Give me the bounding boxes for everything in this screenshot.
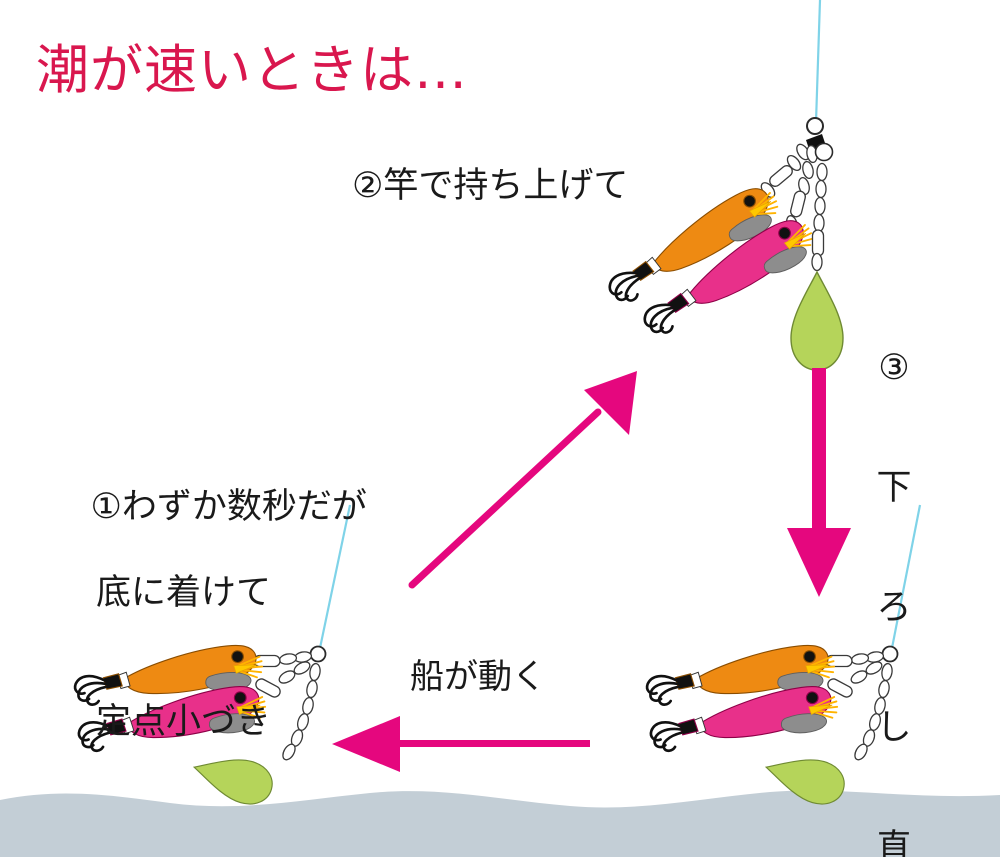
step-1-line1: ①わずか数秒だが (91, 487, 367, 527)
boat-moves-label: 船が動く (410, 649, 546, 698)
step-3-char-4: 直 (872, 828, 916, 857)
sinker-lifted (791, 272, 843, 370)
step-3-char-2: ろ (872, 588, 916, 628)
step-3-char-1: 下 (872, 468, 916, 508)
step-1-line3: 定点小づき (46, 701, 367, 744)
step-2-text: 竿で持ち上げて (383, 166, 628, 206)
arrow-down (787, 368, 851, 597)
step-3-label: ③ 下 ろ し 直 す (872, 268, 916, 857)
step-2-marker: ② (352, 166, 383, 206)
step-2-label: ②竿で持ち上げて (352, 157, 628, 208)
step-1-text1: わずか数秒だが (122, 487, 367, 527)
step-3-marker: ③ (872, 348, 916, 388)
fishing-line (816, 0, 820, 122)
step-1-marker: ① (91, 487, 122, 527)
arrow-left (332, 716, 590, 772)
step-3-char-3: し (872, 708, 916, 748)
step-1-line2: 底に着けて (46, 572, 367, 615)
rig-lifted (599, 0, 843, 370)
diagram-canvas: 潮が速いときは… ②竿で持ち上げて ①わずか数秒だが 底に着けて 定点小づき ③… (0, 0, 1000, 857)
arrow-up-right (412, 371, 637, 585)
step-1-label: ①わずか数秒だが 底に着けて 定点小づき (46, 443, 367, 830)
chain-sinker (812, 144, 833, 271)
page-title: 潮が速いときは… (36, 28, 468, 104)
